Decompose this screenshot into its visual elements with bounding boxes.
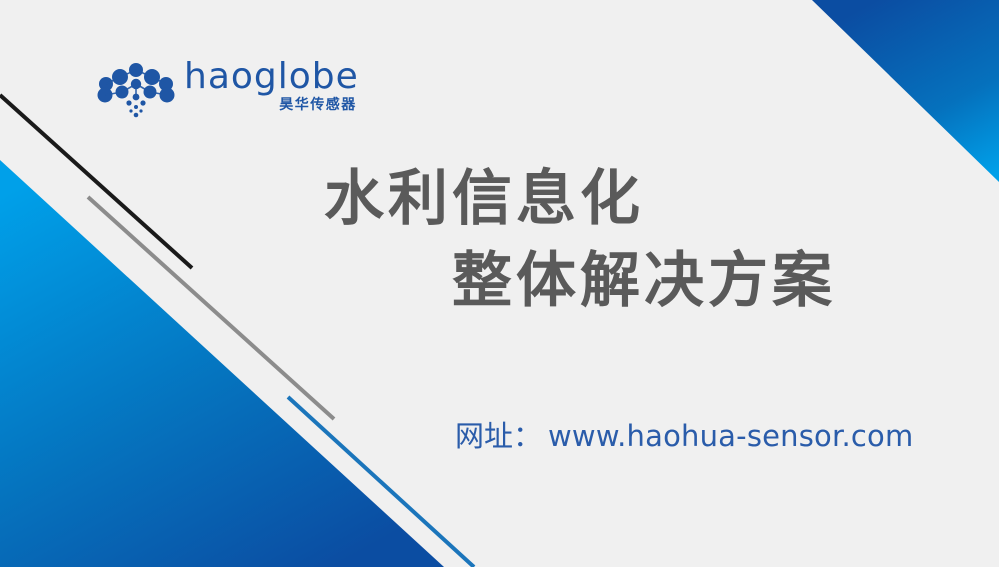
page-title: 水利信息化 整体解决方案 (0, 158, 999, 322)
diagonal-line-blue (288, 397, 474, 567)
website-label: 网址： (455, 418, 542, 454)
logo-text-group: haoglobe 昊华传感器 (184, 58, 359, 113)
title-line-2: 整体解决方案 (0, 240, 999, 322)
top-right-blue-triangle (812, 0, 999, 182)
logo-chinese-name: 昊华传感器 (279, 97, 357, 113)
website-line: 网址： www.haohua-sensor.com (455, 418, 913, 454)
company-logo: haoglobe 昊华传感器 (96, 58, 359, 120)
presentation-title-slide: haoglobe 昊华传感器 水利信息化 整体解决方案 网址： www.haoh… (0, 0, 999, 567)
haoglobe-dot-cluster-logo-mark (96, 62, 176, 118)
logo-wordmark: haoglobe (184, 58, 359, 96)
website-url[interactable]: www.haohua-sensor.com (548, 418, 913, 454)
title-line-1: 水利信息化 (0, 158, 999, 240)
